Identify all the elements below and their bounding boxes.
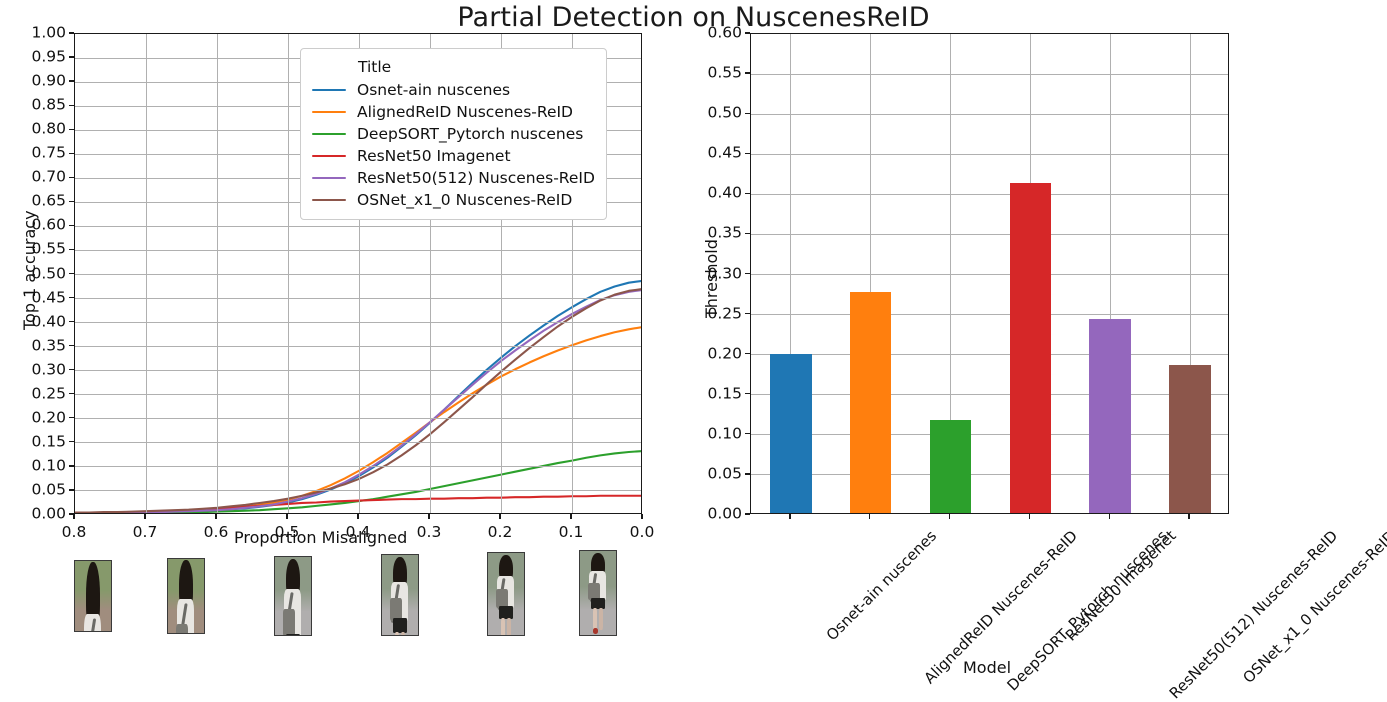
x-tick-label: 0.7 [133, 525, 158, 541]
gridline-vertical [217, 34, 218, 513]
y-tick-label: 0.10 [680, 426, 742, 442]
x-tick-label: 0.0 [630, 525, 655, 541]
y-tick-label: 0.30 [4, 362, 66, 378]
pedestrian-silhouette [278, 559, 308, 636]
gridline-horizontal [751, 114, 1228, 115]
gridline-horizontal [751, 74, 1228, 75]
x-tick-label: 0.1 [559, 525, 584, 541]
figure-shorts [499, 606, 512, 618]
legend-entry[interactable]: OSNet_x1_0 Nuscenes-ReID [312, 189, 595, 211]
legend-color-swatch [312, 199, 346, 202]
bar[interactable] [770, 354, 812, 513]
x-tick-mark [215, 514, 216, 519]
y-tick-label: 0.25 [4, 386, 66, 402]
x-tick-mark [499, 514, 500, 519]
legend-entry-list: Osnet-ain nuscenesAlignedReID Nuscenes-R… [312, 79, 595, 211]
line-chart-y-axis-label: Top 1 accuracy [20, 210, 39, 330]
figure-leg-left [593, 608, 597, 630]
legend-color-swatch [312, 155, 346, 158]
x-tick-mark [1029, 514, 1030, 519]
thumbnail-image [488, 553, 524, 635]
thumbnail-image [75, 561, 111, 631]
figure-leg-right [401, 632, 405, 636]
y-tick-mark [69, 321, 74, 322]
y-tick-mark [745, 273, 750, 274]
y-tick-label: 0.90 [4, 73, 66, 89]
y-tick-label: 0.45 [680, 146, 742, 162]
y-tick-mark [745, 72, 750, 73]
y-tick-mark [69, 177, 74, 178]
figure-backpack [283, 609, 296, 636]
y-tick-mark [745, 473, 750, 474]
gridline-horizontal [751, 194, 1228, 195]
legend-entry-label: Osnet-ain nuscenes [357, 79, 510, 101]
x-tick-label: 0.6 [204, 525, 229, 541]
y-tick-mark [69, 297, 74, 298]
sample-crop-thumbnail [487, 552, 525, 636]
bar-chart-plot-area [750, 33, 1229, 514]
y-tick-label: 0.05 [680, 466, 742, 482]
y-tick-label: 0.20 [4, 410, 66, 426]
y-tick-mark [69, 56, 74, 57]
y-tick-label: 0.55 [680, 65, 742, 81]
y-tick-mark [69, 393, 74, 394]
x-tick-mark [789, 514, 790, 519]
sample-crop-thumbnail [381, 554, 419, 636]
bar[interactable] [850, 292, 892, 513]
x-tick-mark [357, 514, 358, 519]
y-tick-mark [745, 193, 750, 194]
y-tick-label: 0.70 [4, 170, 66, 186]
y-tick-label: 0.65 [4, 194, 66, 210]
y-tick-mark [745, 113, 750, 114]
legend-entry-label: DeepSORT_Pytorch nuscenes [357, 123, 583, 145]
gridline-horizontal [751, 274, 1228, 275]
y-tick-label: 0.05 [4, 482, 66, 498]
bar-category-label: Osnet-ain nuscenes [824, 528, 939, 643]
y-tick-label: 0.85 [4, 97, 66, 113]
legend-entry[interactable]: Osnet-ain nuscenes [312, 79, 595, 101]
x-tick-mark [869, 514, 870, 519]
x-tick-mark [641, 514, 642, 519]
y-tick-mark [69, 80, 74, 81]
figure-leg-right [599, 608, 603, 630]
y-tick-mark [69, 201, 74, 202]
legend-entry-label: ResNet50 Imagenet [357, 145, 511, 167]
thumbnail-image [580, 551, 616, 635]
legend-entry[interactable]: DeepSORT_Pytorch nuscenes [312, 123, 595, 145]
figure-leg-right [507, 618, 511, 636]
gridline-vertical [288, 34, 289, 513]
y-tick-label: 0.95 [4, 49, 66, 65]
bar[interactable] [1010, 183, 1052, 513]
y-tick-label: 0.50 [680, 105, 742, 121]
pedestrian-silhouette [385, 557, 415, 636]
y-tick-mark [745, 313, 750, 314]
legend-entry[interactable]: AlignedReID Nuscenes-ReID [312, 101, 595, 123]
y-tick-mark [69, 417, 74, 418]
y-tick-label: 0.20 [680, 346, 742, 362]
legend-entry-label: OSNet_x1_0 Nuscenes-ReID [357, 189, 572, 211]
y-tick-label: 0.00 [680, 506, 742, 522]
x-tick-mark [144, 514, 145, 519]
y-tick-label: 0.15 [4, 434, 66, 450]
x-tick-label: 0.2 [488, 525, 513, 541]
legend-color-swatch [312, 89, 346, 92]
y-tick-label: 0.40 [680, 186, 742, 202]
line-chart-legend[interactable]: Title Osnet-ain nuscenesAlignedReID Nusc… [300, 48, 607, 220]
legend-title: Title [358, 56, 595, 78]
y-tick-mark [69, 153, 74, 154]
pedestrian-silhouette [78, 562, 108, 632]
y-tick-label: 0.10 [4, 458, 66, 474]
sample-crop-thumbnail [579, 550, 617, 636]
line-chart-x-axis-label: Proportion Misaligned [234, 528, 407, 547]
legend-entry[interactable]: ResNet50(512) Nuscenes-ReID [312, 167, 595, 189]
y-tick-mark [69, 32, 74, 33]
legend-entry-label: ResNet50(512) Nuscenes-ReID [357, 167, 595, 189]
gridline-horizontal [751, 234, 1228, 235]
y-tick-label: 0.80 [4, 121, 66, 137]
figure-backpack [390, 598, 403, 621]
legend-color-swatch [312, 177, 346, 180]
gridline-horizontal [751, 154, 1228, 155]
y-tick-label: 0.35 [4, 338, 66, 354]
y-tick-mark [69, 225, 74, 226]
y-tick-mark [69, 345, 74, 346]
y-tick-mark [69, 105, 74, 106]
bar[interactable] [1169, 365, 1211, 513]
figure-root: Partial Detection on NuscenesReID 0.000.… [0, 0, 1387, 686]
pedestrian-silhouette [171, 560, 201, 634]
thumbnail-image [168, 559, 204, 633]
pedestrian-silhouette [583, 553, 613, 636]
figure-shorts [286, 634, 299, 636]
figure-shorts [393, 618, 406, 633]
y-tick-mark [69, 369, 74, 370]
thumbnail-image [382, 555, 418, 635]
gridline-horizontal [751, 474, 1228, 475]
y-tick-label: 0.60 [680, 25, 742, 41]
x-tick-mark [428, 514, 429, 519]
y-tick-mark [69, 273, 74, 274]
gridline-horizontal [751, 434, 1228, 435]
legend-color-swatch [312, 133, 346, 136]
y-tick-mark [745, 153, 750, 154]
x-tick-mark [1188, 514, 1189, 519]
sample-crop-thumbnail [167, 558, 205, 634]
y-tick-mark [69, 129, 74, 130]
y-tick-mark [745, 433, 750, 434]
sample-crop-thumbnail [274, 556, 312, 636]
figure-leg-left [395, 632, 399, 636]
pedestrian-silhouette [491, 555, 521, 636]
bar-category-label: ResNet50 Imagenet [1064, 528, 1180, 644]
x-tick-label: 0.3 [417, 525, 442, 541]
figure-shoe [593, 628, 598, 634]
y-tick-mark [745, 32, 750, 33]
y-tick-mark [745, 393, 750, 394]
gridline-vertical [146, 34, 147, 513]
y-tick-mark [69, 441, 74, 442]
figure-leg-left [501, 618, 505, 636]
y-tick-mark [69, 465, 74, 466]
gridline-horizontal [751, 314, 1228, 315]
x-tick-mark [949, 514, 950, 519]
y-tick-label: 0.15 [680, 386, 742, 402]
bar-chart-x-axis-label: Model [963, 658, 1011, 677]
y-tick-label: 0.00 [4, 506, 66, 522]
x-tick-mark [570, 514, 571, 519]
y-tick-mark [745, 513, 750, 514]
legend-entry[interactable]: ResNet50 Imagenet [312, 145, 595, 167]
y-tick-mark [69, 489, 74, 490]
bar[interactable] [1089, 319, 1131, 513]
x-tick-mark [286, 514, 287, 519]
y-tick-label: 0.75 [4, 146, 66, 162]
legend-color-swatch [312, 111, 346, 114]
gridline-horizontal [751, 354, 1228, 355]
figure-backpack [176, 624, 189, 634]
x-tick-label: 0.8 [62, 525, 87, 541]
y-tick-mark [745, 233, 750, 234]
gridline-horizontal [751, 394, 1228, 395]
y-tick-mark [745, 353, 750, 354]
bar-chart-y-axis-label: Threshold [702, 239, 721, 318]
x-tick-mark [1109, 514, 1110, 519]
bar[interactable] [930, 420, 972, 513]
sample-crop-thumbnail [74, 560, 112, 632]
thumbnail-image [275, 557, 311, 635]
legend-entry-label: AlignedReID Nuscenes-ReID [357, 101, 573, 123]
y-tick-mark [69, 249, 74, 250]
y-tick-label: 1.00 [4, 25, 66, 41]
x-tick-mark [73, 514, 74, 519]
